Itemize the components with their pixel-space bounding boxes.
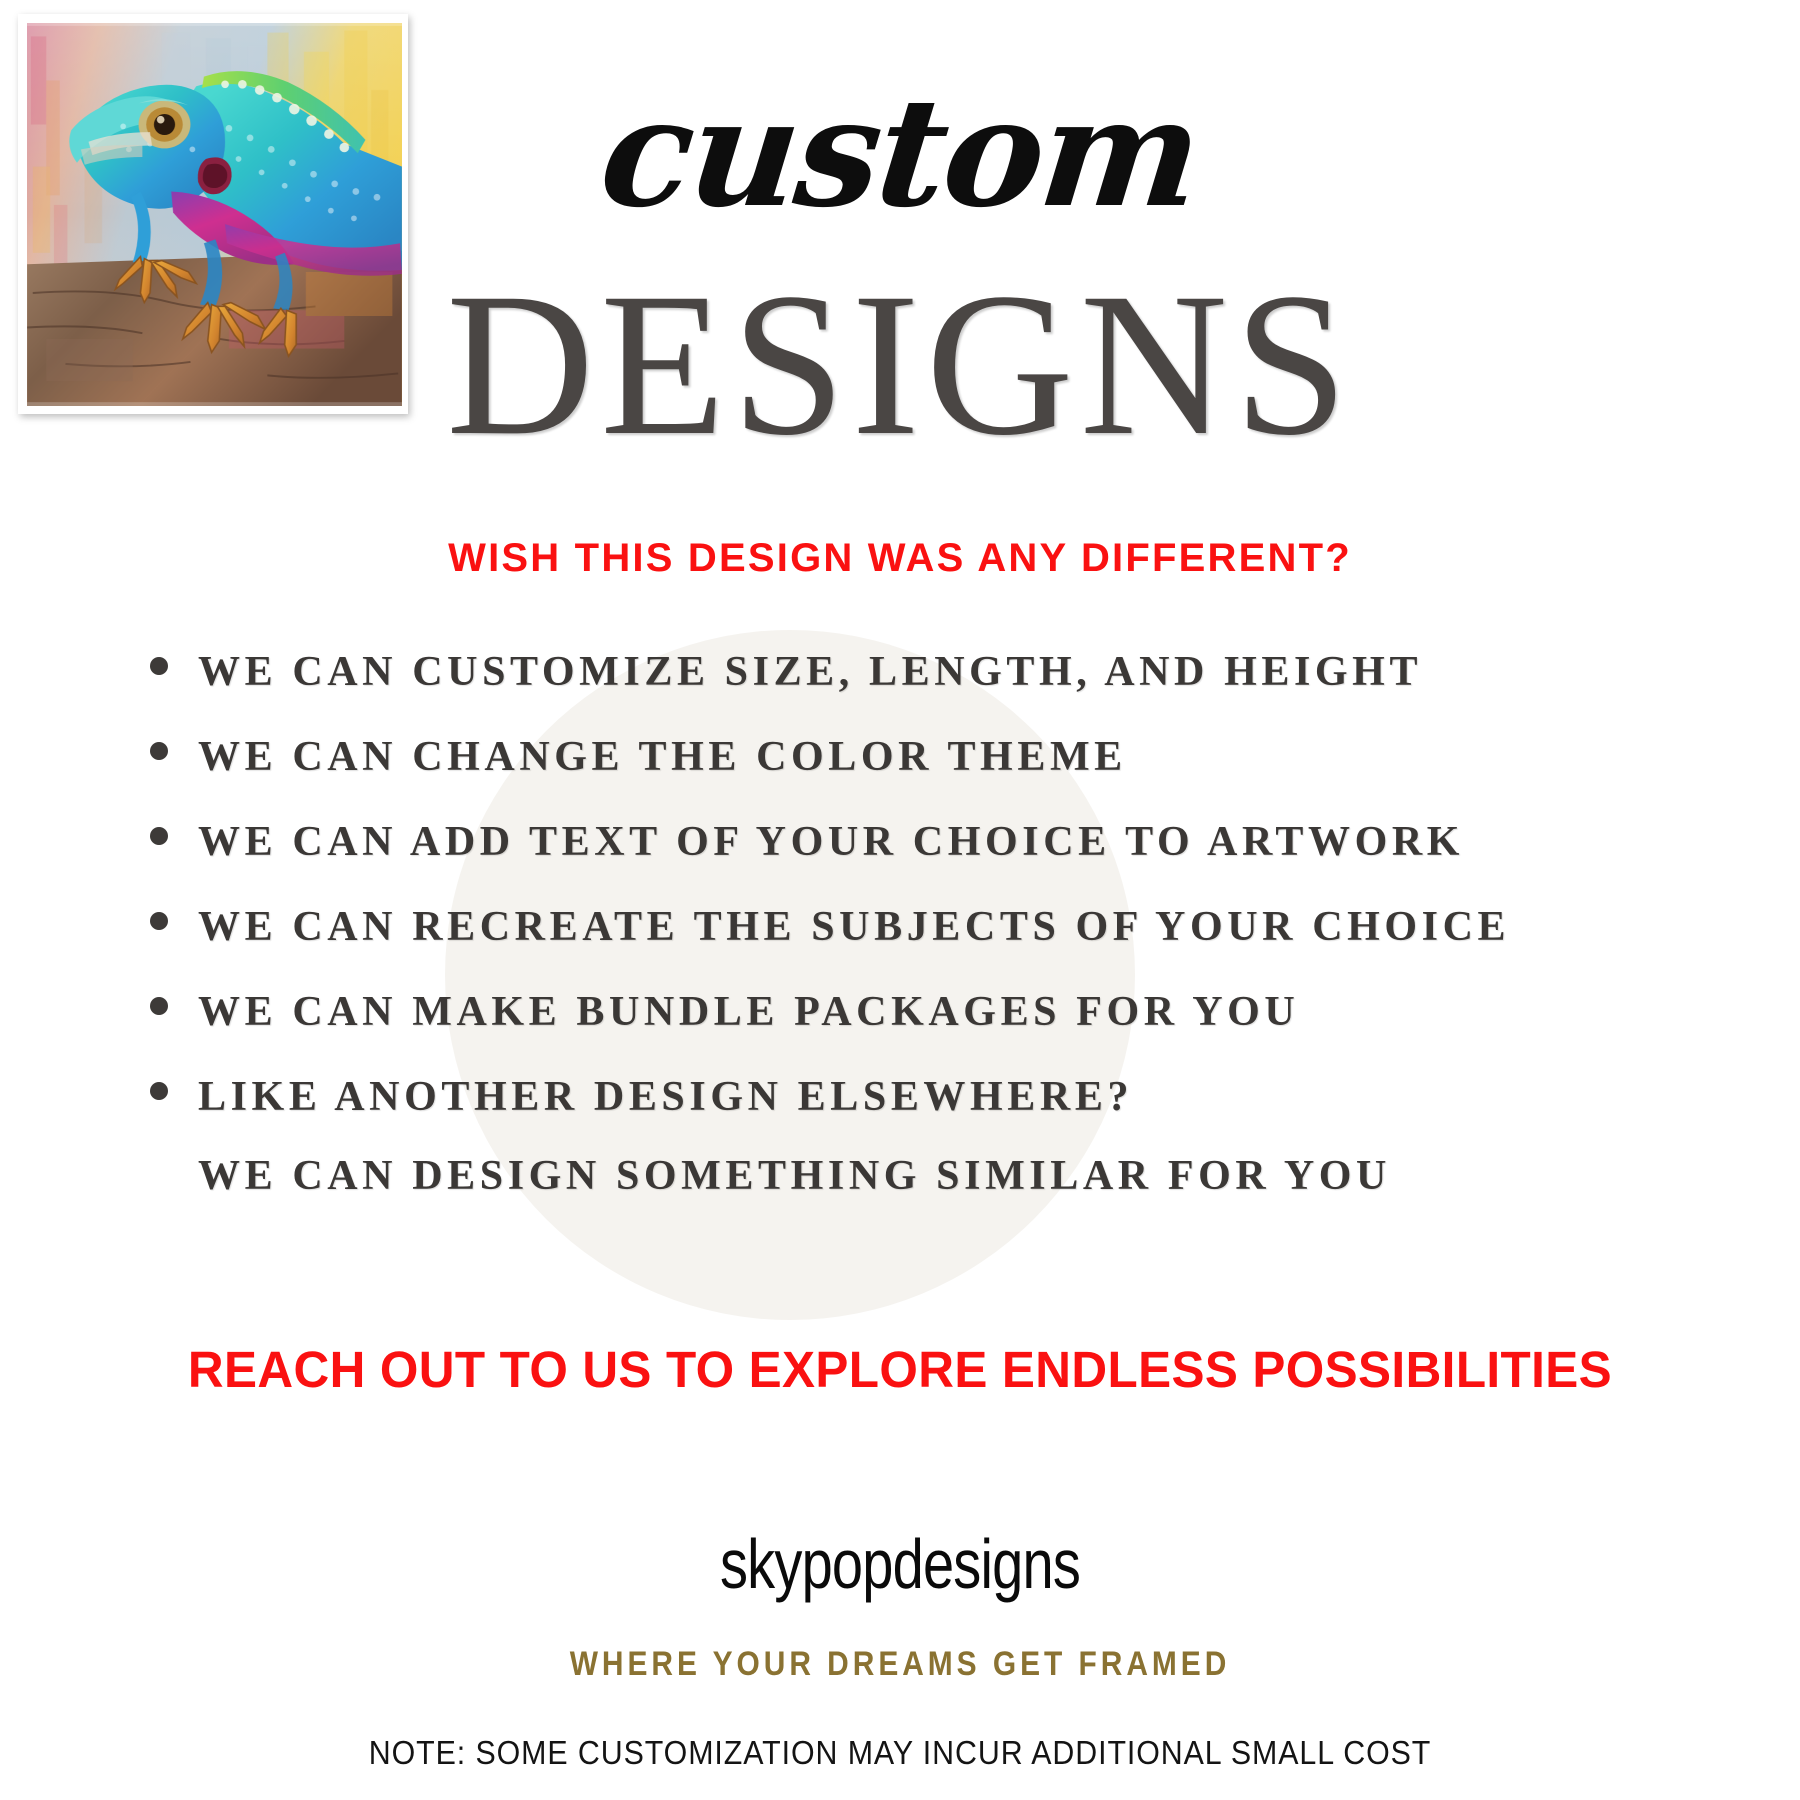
benefit-label: WE CAN MAKE BUNDLE PACKAGES FOR YOU (198, 988, 1299, 1036)
benefit-item-6: LIKE ANOTHER DESIGN ELSEWHERE? (0, 1073, 1800, 1158)
bullet-dot-icon (150, 997, 168, 1015)
bullet-dot-icon (150, 657, 168, 675)
benefit-continuation-line: WE CAN DESIGN SOMETHING SIMILAR FOR YOU (198, 1152, 1391, 1200)
brand-name: skypopdesigns (180, 1524, 1620, 1604)
benefit-item-3: WE CAN ADD TEXT OF YOUR CHOICE TO ARTWOR… (0, 818, 1800, 903)
benefit-label: LIKE ANOTHER DESIGN ELSEWHERE? (198, 1073, 1133, 1121)
benefit-item-2: WE CAN CHANGE THE COLOR THEME (0, 733, 1800, 818)
tagline-question: WISH THIS DESIGN WAS ANY DIFFERENT? (0, 536, 1800, 581)
bullet-dot-icon (150, 742, 168, 760)
bullet-dot-icon (150, 827, 168, 845)
benefit-label: WE CAN ADD TEXT OF YOUR CHOICE TO ARTWOR… (198, 818, 1464, 866)
brand-tagline: WHERE YOUR DREAMS GET FRAMED (108, 1645, 1692, 1684)
benefit-item-4: WE CAN RECREATE THE SUBJECTS OF YOUR CHO… (0, 903, 1800, 988)
benefit-item-5: WE CAN MAKE BUNDLE PACKAGES FOR YOU (0, 988, 1800, 1073)
call-to-action-line: REACH OUT TO US TO EXPLORE ENDLESS POSSI… (27, 1340, 1773, 1399)
bullet-dot-icon (150, 912, 168, 930)
benefit-label: WE CAN CHANGE THE COLOR THEME (198, 733, 1127, 781)
benefit-item-1: WE CAN CUSTOMIZE SIZE, LENGTH, AND HEIGH… (0, 648, 1800, 733)
artwork-thumbnail-card[interactable] (18, 14, 408, 414)
bullet-dot-icon (150, 1082, 168, 1100)
lizard-painting-svg (27, 23, 402, 406)
benefit-label: WE CAN RECREATE THE SUBJECTS OF YOUR CHO… (198, 903, 1510, 951)
benefits-list: WE CAN CUSTOMIZE SIZE, LENGTH, AND HEIGH… (0, 648, 1800, 1158)
footnote-disclaimer: NOTE: SOME CUSTOMIZATION MAY INCUR ADDIT… (72, 1734, 1728, 1772)
benefit-label: WE CAN CUSTOMIZE SIZE, LENGTH, AND HEIGH… (198, 648, 1422, 696)
lizard-painting-image (27, 23, 402, 406)
